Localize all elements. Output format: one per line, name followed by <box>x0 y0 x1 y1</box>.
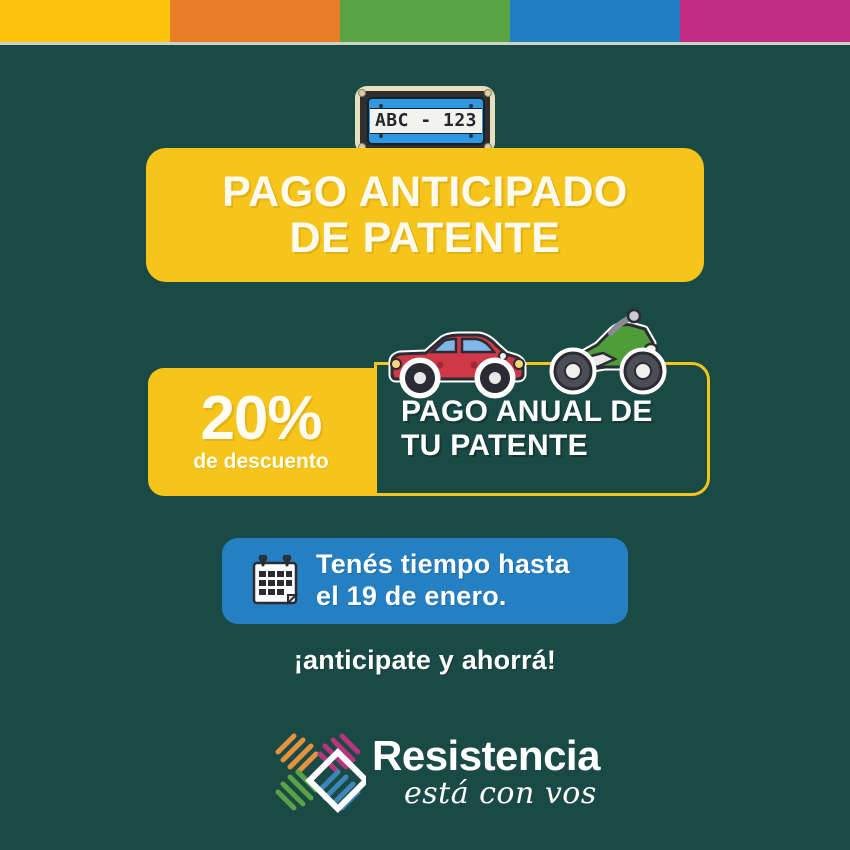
top-bar-divider <box>0 42 850 45</box>
headline-banner: PAGO ANTICIPADO DE PATENTE <box>146 148 704 282</box>
logo-quadrant-orange <box>278 736 316 772</box>
plate-rivet <box>469 134 473 138</box>
motorcycle-mirror <box>628 310 640 322</box>
deadline-line-1: Tenés tiempo hasta <box>316 549 570 581</box>
calendar-icon <box>250 555 300 607</box>
logo-slogan: está con vos <box>404 779 600 809</box>
color-segment-blue <box>510 0 680 42</box>
poster-canvas: ABC - 123 PAGO ANTICIPADO DE PATENTE 20%… <box>0 0 850 850</box>
brand-logo: Resistencia está con vos <box>270 722 590 822</box>
top-color-bar <box>0 0 850 42</box>
license-plate-frame: ABC - 123 <box>355 86 495 154</box>
discount-panel: 20% de descuento <box>148 368 374 496</box>
car-headlight-front <box>514 359 524 369</box>
headline-line-2: DE PATENTE <box>290 215 561 261</box>
plate-rivet <box>379 104 383 108</box>
license-plate-number: ABC - 123 <box>375 112 477 130</box>
color-segment-green <box>340 0 510 42</box>
car-wheel-rear <box>403 361 437 395</box>
deadline-text: Tenés tiempo hasta el 19 de enero. <box>316 549 570 613</box>
diamond-logo-icon <box>270 724 366 820</box>
color-segment-orange <box>170 0 340 42</box>
tagline-text: ¡anticipate y ahorrá! <box>0 645 850 676</box>
plate-rivet <box>379 134 383 138</box>
motorcycle-wheel-front <box>623 351 663 391</box>
car-wheel-front <box>478 361 512 395</box>
car-icon <box>380 320 530 400</box>
color-segment-yellow <box>0 0 170 42</box>
car-door-handle <box>471 362 478 369</box>
discount-percent: 20% <box>200 390 321 449</box>
logo-wordmark: Resistencia está con vos <box>372 735 600 809</box>
logo-quadrant-blue <box>320 772 358 808</box>
plate-rivet <box>469 104 473 108</box>
license-plate-body: ABC - 123 <box>367 97 485 145</box>
discount-subtitle: de descuento <box>193 450 328 474</box>
deadline-banner: Tenés tiempo hasta el 19 de enero. <box>222 538 628 624</box>
car-headlight-rear <box>391 359 401 369</box>
logo-name: Resistencia <box>372 735 600 777</box>
annual-payment-line-2: TU PATENTE <box>401 429 707 464</box>
deadline-line-2: el 19 de enero. <box>316 581 570 613</box>
plate-screw <box>358 89 366 97</box>
motorcycle-icon <box>545 305 675 400</box>
plate-screw <box>484 89 492 97</box>
license-plate-text-band: ABC - 123 <box>370 108 482 134</box>
vehicle-illustrations <box>380 305 700 400</box>
headline-line-1: PAGO ANTICIPADO <box>222 169 628 215</box>
color-segment-magenta <box>680 0 850 42</box>
motorcycle-wheel-rear <box>553 351 593 391</box>
